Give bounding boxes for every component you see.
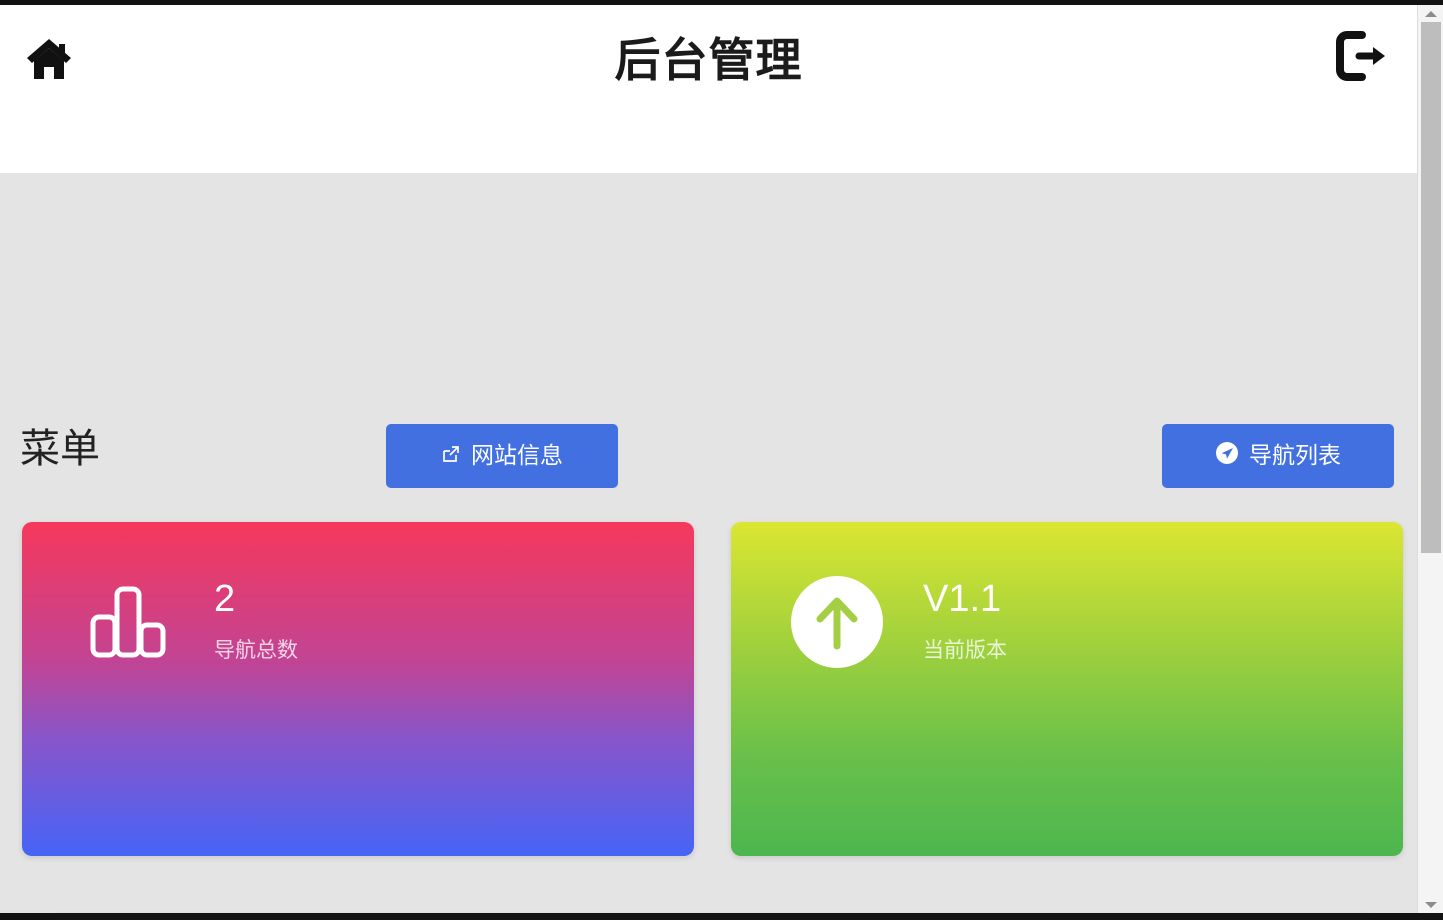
sign-out-icon: [1335, 31, 1389, 86]
site-info-button[interactable]: 网站信息: [386, 424, 618, 488]
browser-viewport: 后台管理 菜单: [0, 0, 1443, 920]
page-header: 后台管理: [0, 5, 1417, 173]
version-card[interactable]: V1.1 当前版本: [731, 522, 1403, 856]
logout-button[interactable]: [1331, 27, 1393, 89]
stat-card-grid: 2 导航总数: [0, 522, 1417, 857]
arrow-up-circle-icon: [789, 574, 885, 670]
window-top-edge: [0, 0, 1443, 5]
page-content: 后台管理 菜单: [0, 5, 1417, 913]
nav-list-button[interactable]: 导航列表: [1162, 424, 1394, 488]
vertical-scrollbar[interactable]: [1417, 5, 1443, 913]
paper-plane-circle-icon: [1215, 441, 1239, 471]
chevron-up-icon: [1425, 11, 1437, 17]
window-bottom-edge: [0, 913, 1443, 920]
nav-list-button-label: 导航列表: [1249, 444, 1341, 469]
nav-total-card[interactable]: 2 导航总数: [22, 522, 694, 856]
external-link-square-icon: [441, 443, 461, 470]
bar-chart-icon: [80, 574, 176, 670]
version-caption: 当前版本: [923, 636, 1007, 666]
site-info-button-label: 网站信息: [471, 444, 563, 469]
page-title: 后台管理: [0, 29, 1417, 91]
menu-heading: 菜单: [20, 425, 100, 473]
chevron-down-icon: [1425, 902, 1437, 908]
scrollbar-thumb[interactable]: [1421, 22, 1441, 553]
scrollbar-up-button[interactable]: [1418, 5, 1443, 22]
nav-total-value: 2: [214, 576, 298, 622]
scrollbar-down-button[interactable]: [1418, 896, 1443, 913]
nav-total-caption: 导航总数: [214, 636, 298, 666]
version-value: V1.1: [923, 576, 1007, 622]
dashboard-body: 菜单 网站信息: [0, 173, 1417, 913]
